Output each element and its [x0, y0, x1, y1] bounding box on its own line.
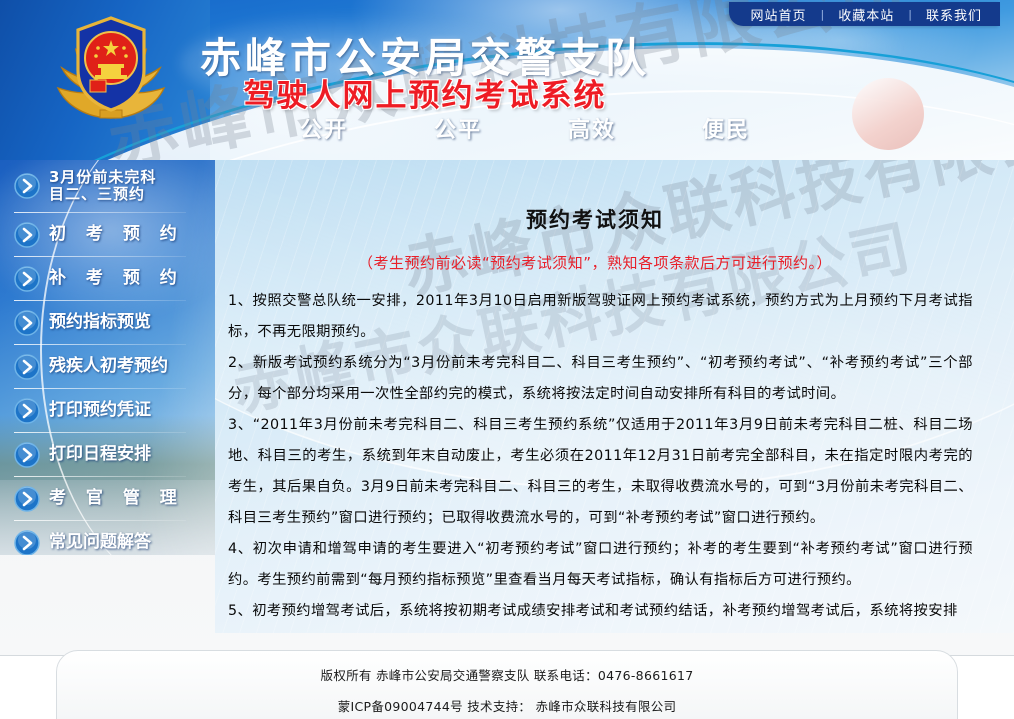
page-title: 预约考试须知 [215, 204, 975, 234]
police-emblem-icon [48, 6, 174, 132]
notice-body: 1、按照交警总队统一安排，2011年3月10日启用新版驾驶证网上预约考试系统，预… [228, 286, 973, 627]
nav-separator-1: | [821, 8, 825, 21]
site-slogan: 公开 公平 高效 便民 [300, 112, 750, 144]
footer-icp-support: 蒙ICP备09004744号 技术支持： 赤峰市众联科技有限公司 [57, 696, 957, 715]
slogan-word-3: 高效 [568, 112, 616, 144]
nav-link-bookmark[interactable]: 收藏本站 [838, 5, 894, 24]
site-header: 赤峰市众联科技有限公司 [0, 0, 1014, 160]
chevron-right-icon [14, 266, 40, 292]
site-footer: 版权所有 赤峰市公安局交通警察支队 联系电话：0476-8661617 蒙ICP… [0, 655, 1014, 719]
sidebar-item-quota-preview[interactable]: 预约指标预览 [0, 301, 215, 344]
sidebar-item-print-schedule[interactable]: 打印日程安排 [0, 433, 215, 476]
nav-link-home[interactable]: 网站首页 [751, 5, 807, 24]
chevron-right-icon [14, 173, 40, 199]
sidebar-menu: 3月份前未完科 目二、三预约 初 考 预 约 补 考 预 约 [0, 160, 215, 555]
header-decorative-circle [852, 78, 924, 150]
sidebar-item-label: 打印日程安排 [49, 445, 151, 465]
sidebar-item-label: 预约指标预览 [49, 313, 151, 333]
sidebar-item-label: 初 考 预 约 [49, 225, 184, 245]
chevron-right-icon [14, 442, 40, 468]
chevron-right-icon [14, 486, 40, 512]
sidebar-item-faq[interactable]: 常见问题解答 [0, 521, 215, 555]
slogan-word-1: 公开 [300, 112, 348, 144]
sidebar-item-examiner-management[interactable]: 考 官 管 理 [0, 477, 215, 520]
notice-paragraph-5: 5、初考预约增驾考试后，系统将按初期考试成绩安排考试和考试预约结话，补考预约增驾… [228, 596, 973, 627]
sidebar-item-print-voucher[interactable]: 打印预约凭证 [0, 389, 215, 432]
notice-paragraph-2: 2、新版考试预约系统分为“3月份前未考完科目二、科目三考生预约”、“初考预约考试… [228, 348, 973, 410]
sidebar-item-label: 常见问题解答 [49, 533, 151, 553]
sidebar-item-label: 补 考 预 约 [49, 269, 184, 289]
sidebar: 3月份前未完科 目二、三预约 初 考 预 约 补 考 预 约 [0, 160, 215, 555]
notice-warning-text: （考生预约前必读“预约考试须知”，熟知各项条款后方可进行预约。） [215, 252, 975, 273]
notice-paragraph-3: 3、“2011年3月份前未考完科目二、科目三考生预约系统”仅适用于2011年3月… [228, 410, 973, 534]
chevron-right-icon [14, 222, 40, 248]
sidebar-item-first-exam-booking[interactable]: 初 考 预 约 [0, 213, 215, 256]
slogan-word-4: 便民 [702, 112, 750, 144]
notice-paragraph-1: 1、按照交警总队统一安排，2011年3月10日启用新版驾驶证网上预约考试系统，预… [228, 286, 973, 348]
slogan-word-2: 公平 [434, 112, 482, 144]
content-panel: 赤峰市众联科技有限公司 赤峰市众联科技有限公司 预约考试须知 （考生预约前必读“… [215, 160, 1014, 633]
sidebar-item-label: 3月份前未完科 目二、三预约 [49, 169, 156, 204]
body-area: 3月份前未完科 目二、三预约 初 考 预 约 补 考 预 约 [0, 160, 1014, 655]
chevron-right-icon [14, 310, 40, 336]
sidebar-item-retest-booking[interactable]: 补 考 预 约 [0, 257, 215, 300]
chevron-right-icon [14, 398, 40, 424]
sidebar-item-label: 残疾人初考预约 [49, 357, 168, 377]
top-nav: 网站首页 | 收藏本站 | 联系我们 [729, 2, 1000, 26]
notice-paragraph-4: 4、初次申请和增驾申请的考生要进入“初考预约考试”窗口进行预约；补考的考生要到“… [228, 534, 973, 596]
sidebar-item-label: 考 官 管 理 [49, 489, 184, 509]
sidebar-item-march-unfinished[interactable]: 3月份前未完科 目二、三预约 [0, 160, 215, 212]
site-title-sub: 驾驶人网上预约考试系统 [190, 70, 660, 115]
sidebar-item-label: 打印预约凭证 [49, 401, 151, 421]
footer-copyright: 版权所有 赤峰市公安局交通警察支队 联系电话：0476-8661617 [57, 665, 957, 684]
footer-panel: 版权所有 赤峰市公安局交通警察支队 联系电话：0476-8661617 蒙ICP… [56, 650, 958, 719]
page-root: 赤峰市众联科技有限公司 [0, 0, 1014, 719]
chevron-right-icon [14, 530, 40, 556]
nav-separator-2: | [908, 8, 912, 21]
nav-link-contact[interactable]: 联系我们 [926, 5, 982, 24]
chevron-right-icon [14, 354, 40, 380]
sidebar-item-disabled-first-exam[interactable]: 残疾人初考预约 [0, 345, 215, 388]
